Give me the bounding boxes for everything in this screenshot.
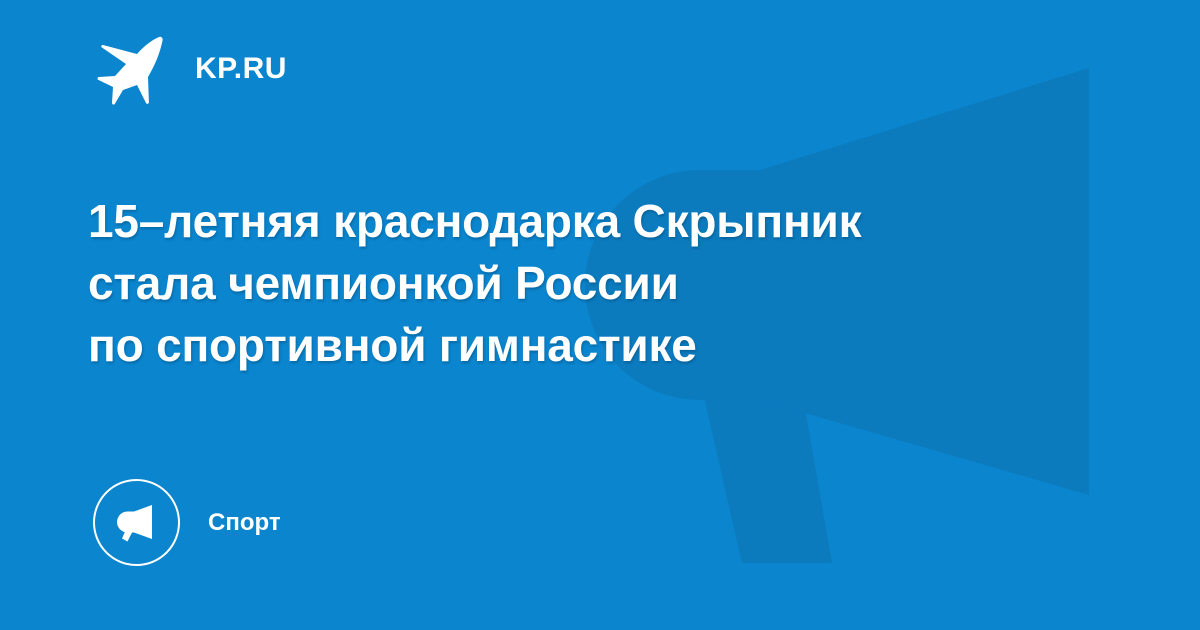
headline: 15–летняя краснодарка Скрыпник стала чем… — [88, 190, 1098, 376]
headline-line-1: 15–летняя краснодарка Скрыпник — [88, 190, 1098, 252]
headline-line-3: по спортивной гимнастике — [88, 314, 1098, 376]
swallow-bird-icon — [97, 33, 175, 105]
category-section[interactable]: Спорт — [93, 479, 281, 566]
brand-header[interactable]: KP.RU — [97, 33, 287, 105]
headline-line-2: стала чемпионкой России — [88, 252, 1098, 314]
category-label: Спорт — [208, 511, 281, 535]
brand-wordmark: KP.RU — [195, 54, 287, 84]
social-share-card: KP.RU 15–летняя краснодарка Скрыпник ста… — [0, 0, 1200, 630]
category-badge — [93, 479, 180, 566]
megaphone-icon — [112, 498, 162, 548]
